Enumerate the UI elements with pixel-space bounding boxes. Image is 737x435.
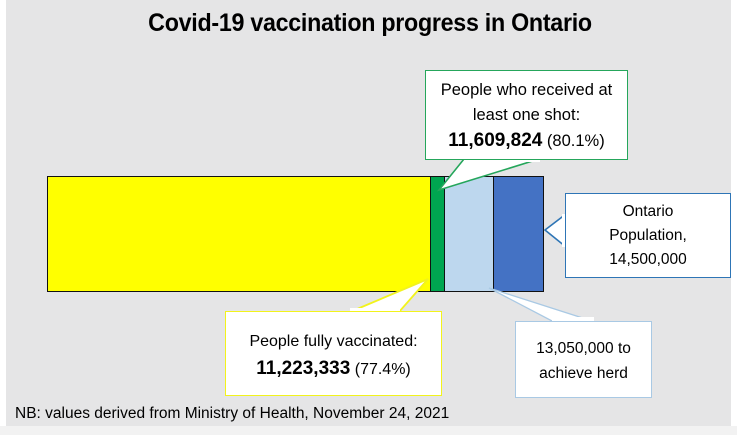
callout-herd-line-2: achieve herd <box>516 361 651 386</box>
slide-bottom-strip <box>0 426 737 435</box>
callout-population-line-1: Ontario <box>566 200 730 224</box>
callout-population-line-3: 14,500,000 <box>566 248 730 272</box>
callout-fully-vaccinated-label: People fully vaccinated: <box>226 328 441 355</box>
callout-one-dose[interactable]: People who received at least one shot: 1… <box>425 70 628 160</box>
source-footnote: NB: values derived from Ministry of Heal… <box>15 404 449 424</box>
bar-segment-fully-vaccinated[interactable] <box>48 177 430 291</box>
callout-fully-vaccinated-value-row: 11,223,333 (77.4%) <box>226 355 441 383</box>
callout-one-dose-label-line-1: People who received at <box>426 78 627 103</box>
page-title: Covid-19 vaccination progress in Ontario <box>138 8 603 38</box>
page-title-line-1: Covid-19 vaccination progress in <box>148 9 505 37</box>
callout-one-dose-percent: (80.1%) <box>547 132 605 150</box>
callout-ontario-population[interactable]: Ontario Population, 14,500,000 <box>565 193 731 278</box>
callout-one-dose-value-row: 11,609,824 (80.1%) <box>426 128 627 154</box>
page-title-line-2: Ontario <box>511 9 592 37</box>
callout-fully-vaccinated-percent: (77.4%) <box>355 361 411 378</box>
callout-herd-immunity[interactable]: 13,050,000 to achieve herd <box>515 321 652 398</box>
bar-segment-population-gap[interactable] <box>493 177 543 291</box>
callout-fully-vaccinated-value: 11,223,333 <box>256 358 350 379</box>
stacked-bar-chart <box>47 176 544 292</box>
bar-segment-herd-gap[interactable] <box>444 177 493 291</box>
bar-segment-one-dose[interactable] <box>430 177 444 291</box>
callout-fully-vaccinated[interactable]: People fully vaccinated: 11,223,333 (77.… <box>225 311 442 396</box>
callout-herd-line-1: 13,050,000 to <box>516 336 651 361</box>
callout-one-dose-label-line-2: least one shot: <box>426 103 627 128</box>
callout-population-line-2: Population, <box>566 224 730 248</box>
callout-one-dose-value: 11,609,824 <box>448 130 542 151</box>
chart-canvas: Covid-19 vaccination progress in Ontario… <box>0 0 737 435</box>
